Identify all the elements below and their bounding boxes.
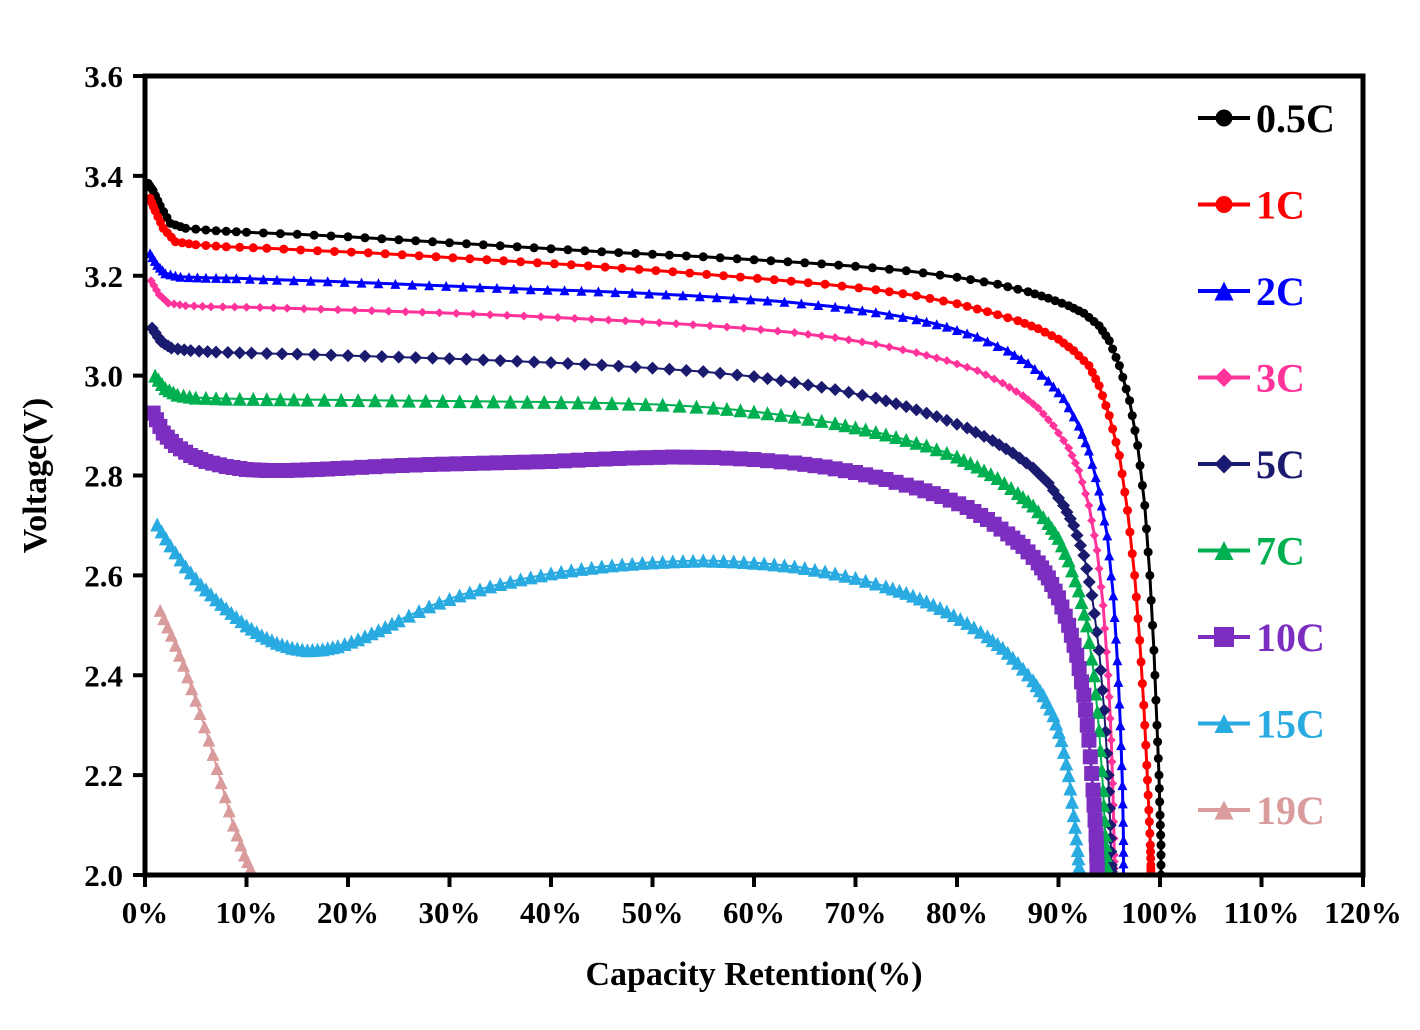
data-point-marker: [476, 456, 491, 471]
data-point-marker: [1122, 384, 1131, 393]
data-point-marker: [747, 452, 762, 467]
data-point-marker: [191, 225, 200, 234]
data-point-marker: [212, 457, 227, 472]
data-point-marker: [377, 234, 386, 243]
data-point-marker: [601, 263, 610, 272]
data-point-marker: [1128, 411, 1137, 420]
data-point-marker: [1003, 282, 1012, 291]
data-point-marker: [1130, 426, 1139, 435]
data-point-marker: [273, 463, 288, 478]
data-point-marker: [1048, 584, 1063, 599]
legend-marker-square-icon: [1214, 627, 1234, 647]
y-axis-tick-label: 3.4: [84, 159, 123, 194]
data-point-marker: [1027, 322, 1036, 331]
data-point-marker: [750, 255, 759, 264]
data-point-marker: [993, 280, 1002, 289]
data-point-marker: [631, 249, 640, 258]
data-point-marker: [212, 226, 221, 235]
data-point-marker: [1087, 798, 1102, 813]
data-point-marker: [1003, 313, 1012, 322]
data-point-marker: [364, 248, 373, 257]
data-point-marker: [251, 878, 264, 891]
x-axis-tick-label: 90%: [1028, 895, 1090, 930]
data-point-marker: [679, 450, 694, 465]
data-point-marker: [1141, 741, 1150, 750]
data-point-marker: [753, 274, 762, 283]
data-point-marker: [868, 470, 883, 485]
data-point-marker: [448, 253, 457, 262]
data-point-marker: [212, 242, 221, 251]
x-axis-tick-label: 40%: [520, 895, 582, 930]
y-axis-tick-label: 3.6: [84, 59, 123, 94]
y-axis-tick-label: 2.8: [84, 459, 123, 494]
data-point-marker: [925, 294, 934, 303]
data-point-marker: [1125, 396, 1134, 405]
data-point-marker: [939, 297, 948, 306]
data-point-marker: [953, 299, 962, 308]
data-point-marker: [716, 253, 725, 262]
data-point-marker: [571, 453, 586, 468]
data-point-marker: [1086, 783, 1101, 798]
data-point-marker: [783, 257, 792, 266]
data-point-marker: [1133, 441, 1142, 450]
data-point-marker: [665, 450, 680, 465]
data-point-marker: [1152, 721, 1161, 730]
data-point-marker: [800, 258, 809, 267]
data-point-marker: [807, 458, 822, 473]
y-axis-tick-label: 2.4: [84, 658, 123, 693]
data-point-marker: [381, 249, 390, 258]
data-point-marker: [951, 496, 966, 511]
data-point-marker: [1078, 703, 1093, 718]
data-point-marker: [1140, 501, 1149, 510]
data-point-marker: [1115, 451, 1124, 460]
capacity-retention-voltage-chart: 0%10%20%30%40%50%60%70%80%90%100%110%120…: [0, 0, 1420, 1030]
data-point-marker: [1150, 671, 1159, 680]
legend-label-text: 5C: [1256, 442, 1305, 487]
data-point-marker: [482, 255, 491, 264]
data-point-marker: [563, 245, 572, 254]
data-point-marker: [1156, 811, 1165, 820]
data-point-marker: [665, 251, 674, 260]
data-point-marker: [1108, 344, 1117, 353]
data-point-marker: [1155, 797, 1164, 806]
data-point-marker: [652, 450, 667, 465]
data-point-marker: [1089, 848, 1104, 863]
data-point-marker: [167, 233, 176, 242]
data-point-marker: [1137, 657, 1146, 666]
data-point-marker: [634, 265, 643, 274]
data-point-marker: [1105, 411, 1114, 420]
data-point-marker: [300, 462, 315, 477]
data-point-marker: [1138, 679, 1147, 688]
data-point-marker: [1147, 596, 1156, 605]
x-axis-tick-label: 0%: [122, 895, 169, 930]
data-point-marker: [253, 463, 268, 478]
data-point-marker: [1080, 718, 1095, 733]
x-axis-tick-label: 20%: [317, 895, 379, 930]
data-point-marker: [821, 280, 830, 289]
data-point-marker: [533, 258, 542, 267]
data-point-marker: [293, 230, 302, 239]
data-point-marker: [489, 455, 504, 470]
data-point-marker: [327, 231, 336, 240]
data-point-marker: [479, 240, 488, 249]
data-point-marker: [462, 456, 477, 471]
data-point-marker: [262, 244, 271, 253]
y-axis-tick-label: 3.2: [84, 259, 123, 294]
data-point-marker: [557, 453, 572, 468]
data-point-marker: [611, 451, 626, 466]
data-point-marker: [584, 261, 593, 270]
data-point-marker: [368, 459, 383, 474]
data-point-marker: [550, 259, 559, 268]
data-point-marker: [912, 291, 921, 300]
data-point-marker: [1098, 391, 1107, 400]
data-point-marker: [530, 454, 545, 469]
data-point-marker: [618, 264, 627, 273]
data-point-marker: [902, 266, 911, 275]
data-point-marker: [354, 460, 369, 475]
data-point-marker: [381, 459, 396, 474]
data-point-marker: [242, 228, 251, 237]
data-point-marker: [176, 222, 185, 231]
data-point-marker: [201, 241, 210, 250]
x-axis-tick-label: 100%: [1121, 895, 1199, 930]
data-point-marker: [1125, 528, 1134, 537]
data-point-marker: [149, 202, 158, 211]
legend-label-text: 3C: [1256, 356, 1305, 401]
data-point-marker: [854, 283, 863, 292]
data-point-marker: [1101, 401, 1110, 410]
data-point-marker: [435, 457, 450, 472]
data-point-marker: [1130, 571, 1139, 580]
data-point-marker: [1064, 342, 1073, 351]
data-point-marker: [1074, 306, 1083, 315]
data-point-marker: [733, 451, 748, 466]
legend-label-text: 15C: [1256, 702, 1325, 747]
data-point-marker: [837, 282, 846, 291]
data-point-marker: [516, 455, 531, 470]
data-point-marker: [394, 235, 403, 244]
y-axis-tick-label: 3.0: [84, 359, 123, 394]
data-point-marker: [766, 256, 775, 265]
data-point-marker: [885, 265, 894, 274]
data-point-marker: [1156, 831, 1165, 840]
x-axis-tick-label: 10%: [216, 895, 278, 930]
data-point-marker: [980, 277, 989, 286]
data-point-marker: [1090, 317, 1099, 326]
x-axis-tick-label: 110%: [1224, 895, 1300, 930]
y-axis-tick-label: 2.0: [84, 858, 123, 893]
data-point-marker: [1101, 331, 1110, 340]
data-point-marker: [682, 251, 691, 260]
data-point-marker: [1112, 438, 1121, 447]
data-point-marker: [868, 263, 877, 272]
data-point-marker: [1142, 524, 1151, 533]
data-point-marker: [668, 267, 677, 276]
data-point-marker: [462, 239, 471, 248]
legend-label-text: 19C: [1256, 788, 1325, 833]
data-point-marker: [1157, 861, 1166, 870]
data-point-marker: [184, 239, 193, 248]
data-point-marker: [1144, 548, 1153, 557]
data-point-marker: [1058, 609, 1073, 624]
data-point-marker: [1154, 754, 1163, 763]
data-point-marker: [834, 261, 843, 270]
data-point-marker: [1145, 817, 1154, 826]
data-point-marker: [1145, 829, 1154, 838]
data-point-marker: [544, 454, 559, 469]
data-point-marker: [973, 508, 988, 523]
data-point-marker: [1144, 791, 1153, 800]
chart-container: 0%10%20%30%40%50%60%70%80%90%100%110%120…: [0, 0, 1420, 1030]
data-point-marker: [699, 252, 708, 261]
data-point-marker: [232, 227, 241, 236]
x-axis-title: Capacity Retention(%): [585, 956, 922, 993]
data-point-marker: [898, 289, 907, 298]
data-point-marker: [973, 305, 982, 314]
data-point-marker: [330, 461, 345, 476]
x-axis-tick-label: 80%: [926, 895, 988, 930]
data-point-marker: [966, 275, 975, 284]
data-point-marker: [580, 246, 589, 255]
data-point-marker: [1067, 638, 1082, 653]
data-point-marker: [1088, 813, 1103, 828]
data-point-marker: [1138, 481, 1147, 490]
data-point-marker: [1151, 696, 1160, 705]
data-point-marker: [1083, 749, 1098, 764]
y-axis-tick-label: 2.6: [84, 558, 123, 593]
data-point-marker: [736, 273, 745, 282]
data-point-marker: [885, 287, 894, 296]
data-point-marker: [279, 245, 288, 254]
data-point-marker: [431, 252, 440, 261]
data-point-marker: [1084, 766, 1099, 781]
data-point-marker: [936, 271, 945, 280]
data-point-marker: [597, 247, 606, 256]
data-point-marker: [953, 273, 962, 282]
data-point-marker: [851, 262, 860, 271]
data-point-marker: [222, 227, 231, 236]
data-point-marker: [1140, 721, 1149, 730]
data-point-marker: [614, 248, 623, 257]
data-point-marker: [685, 269, 694, 278]
data-point-marker: [1120, 488, 1129, 497]
data-point-marker: [899, 478, 914, 493]
data-point-marker: [719, 451, 734, 466]
data-point-marker: [838, 463, 853, 478]
data-point-marker: [1115, 361, 1124, 370]
data-point-marker: [1081, 733, 1096, 748]
data-point-marker: [398, 250, 407, 259]
data-point-marker: [1128, 549, 1137, 558]
data-point-marker: [1118, 469, 1127, 478]
data-point-marker: [1135, 636, 1144, 645]
data-point-marker: [445, 238, 454, 247]
data-point-marker: [719, 271, 728, 280]
data-point-marker: [449, 456, 464, 471]
x-axis-tick-label: 50%: [622, 895, 684, 930]
y-axis-tick-label: 2.2: [84, 758, 123, 793]
legend-marker-circle-icon: [1216, 110, 1233, 127]
data-point-marker: [499, 256, 508, 265]
data-point-marker: [1156, 821, 1165, 830]
x-axis-tick-label: 70%: [825, 895, 887, 930]
data-point-marker: [692, 450, 707, 465]
data-point-marker: [1148, 621, 1157, 630]
data-point-marker: [1153, 737, 1162, 746]
data-point-marker: [1132, 593, 1141, 602]
data-point-marker: [360, 233, 369, 242]
legend-label-text: 10C: [1256, 615, 1325, 660]
data-point-marker: [530, 243, 539, 252]
data-point-marker: [344, 232, 353, 241]
x-axis-tick-label: 120%: [1324, 895, 1402, 930]
data-point-marker: [411, 236, 420, 245]
data-point-marker: [276, 229, 285, 238]
data-point-marker: [296, 245, 305, 254]
legend-label-text: 0.5C: [1256, 96, 1335, 141]
data-point-marker: [871, 285, 880, 294]
data-point-marker: [584, 452, 599, 467]
data-point-marker: [1149, 646, 1158, 655]
data-point-marker: [804, 278, 813, 287]
data-point-marker: [547, 244, 556, 253]
data-point-marker: [235, 243, 244, 252]
x-axis-tick-label: 30%: [419, 895, 481, 930]
data-point-marker: [702, 270, 711, 279]
data-point-marker: [1134, 614, 1143, 623]
data-point-marker: [993, 310, 1002, 319]
data-point-marker: [513, 242, 522, 251]
data-point-marker: [567, 260, 576, 269]
data-point-marker: [1155, 784, 1164, 793]
data-point-marker: [1057, 299, 1066, 308]
data-point-marker: [1123, 506, 1132, 515]
data-point-marker: [1154, 771, 1163, 780]
data-point-marker: [760, 453, 775, 468]
data-point-marker: [422, 457, 437, 472]
data-point-marker: [330, 247, 339, 256]
data-point-marker: [919, 268, 928, 277]
data-point-marker: [733, 254, 742, 263]
data-point-marker: [1072, 661, 1087, 676]
data-point-marker: [201, 225, 210, 234]
legend-label-text: 2C: [1256, 269, 1305, 314]
data-point-marker: [1146, 854, 1155, 863]
data-point-marker: [926, 486, 941, 501]
data-point-marker: [706, 450, 721, 465]
data-point-marker: [1142, 761, 1151, 770]
data-point-marker: [1157, 851, 1166, 860]
data-point-marker: [496, 241, 505, 250]
data-point-marker: [1013, 285, 1022, 294]
legend-label-text: 1C: [1256, 183, 1305, 228]
data-point-marker: [156, 218, 165, 227]
data-point-marker: [465, 254, 474, 263]
data-point-marker: [625, 451, 640, 466]
data-point-marker: [1076, 688, 1091, 703]
data-point-marker: [347, 248, 356, 257]
data-point-marker: [249, 243, 258, 252]
data-point-marker: [1037, 292, 1046, 301]
data-point-marker: [648, 250, 657, 259]
data-point-marker: [638, 450, 653, 465]
data-point-marker: [983, 307, 992, 316]
data-point-marker: [259, 228, 268, 237]
data-point-marker: [428, 237, 437, 246]
data-point-marker: [1074, 674, 1089, 689]
data-point-marker: [503, 455, 518, 470]
data-point-marker: [516, 257, 525, 266]
data-point-marker: [963, 302, 972, 311]
data-point-marker: [787, 277, 796, 286]
data-point-marker: [1143, 776, 1152, 785]
data-point-marker: [1091, 374, 1100, 383]
data-point-marker: [1144, 806, 1153, 815]
legend-label-text: 7C: [1256, 529, 1305, 574]
data-point-marker: [313, 246, 322, 255]
data-point-marker: [598, 452, 613, 467]
y-axis-title: Voltage(V): [17, 398, 54, 554]
data-point-marker: [1112, 353, 1121, 362]
data-point-marker: [1145, 571, 1154, 580]
data-point-marker: [415, 251, 424, 260]
data-point-marker: [1157, 841, 1166, 850]
x-axis-tick-label: 60%: [723, 895, 785, 930]
data-point-marker: [222, 242, 231, 251]
data-point-marker: [1118, 373, 1127, 382]
data-point-marker: [408, 458, 423, 473]
data-point-marker: [232, 461, 247, 476]
data-point-marker: [651, 266, 660, 275]
data-point-marker: [770, 275, 779, 284]
data-point-marker: [1139, 701, 1148, 710]
data-point-marker: [395, 458, 410, 473]
data-point-marker: [817, 259, 826, 268]
data-point-marker: [1136, 461, 1145, 470]
data-point-marker: [1108, 424, 1117, 433]
data-point-marker: [1079, 356, 1088, 365]
data-point-marker: [310, 231, 319, 240]
data-point-marker: [1047, 331, 1056, 340]
legend-marker-circle-icon: [1216, 196, 1233, 213]
data-point-marker: [774, 454, 789, 469]
